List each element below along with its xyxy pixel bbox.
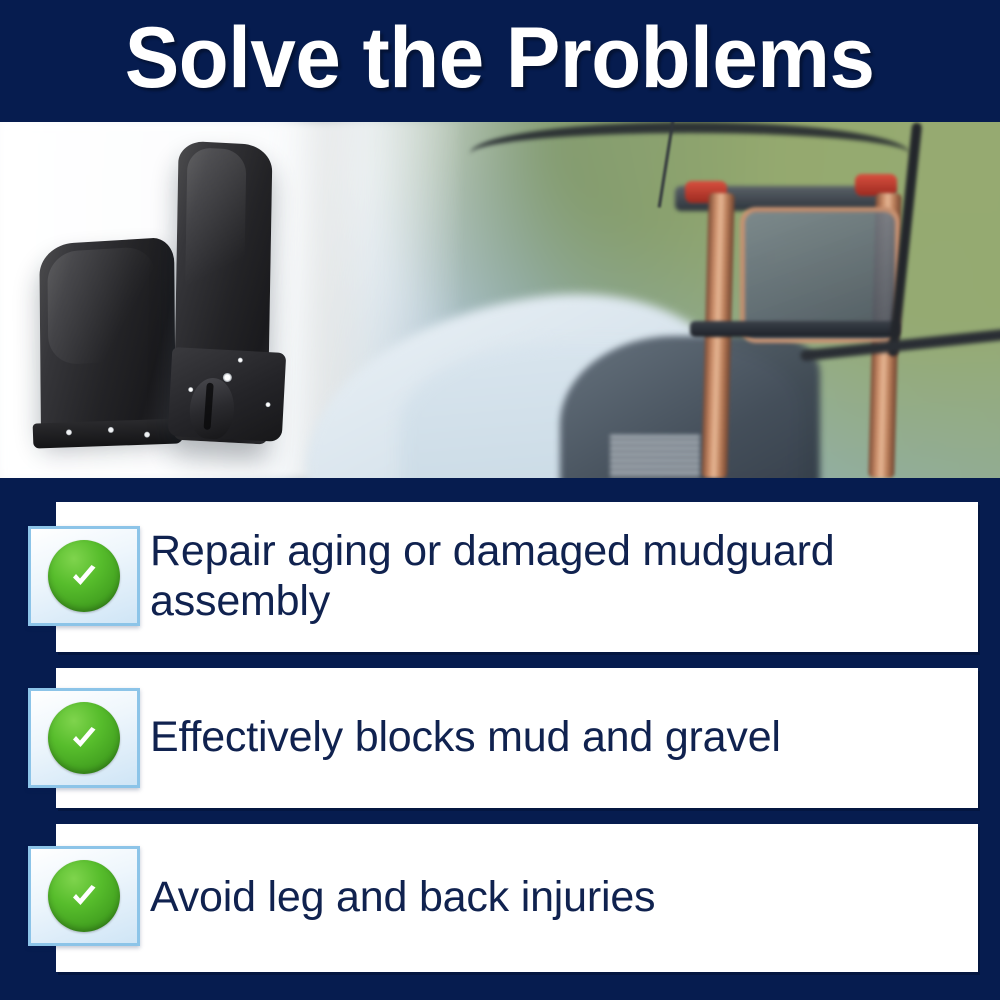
benefit-text: Repair aging or damaged mudguard assembl… [150,527,954,627]
page-title: Solve the Problems [125,15,875,107]
rivet-icon [265,402,270,407]
product-part-small [39,237,175,434]
product-part-small-foot [33,418,184,448]
screw-hole-icon [66,430,72,436]
benefit-check-badge [28,526,140,626]
header-banner: Solve the Problems [0,0,1000,122]
benefit-check-badge [28,846,140,946]
benefit-card: Effectively blocks mud and gravel [56,668,978,808]
benefit-card: Avoid leg and back injuries [56,824,978,972]
rivet-icon [238,357,243,362]
benefit-card: Repair aging or damaged mudguard assembl… [56,502,978,652]
green-check-icon [48,860,120,932]
fork-strap-shape [690,321,900,337]
green-check-icon [48,702,120,774]
benefit-check-badge [28,688,140,788]
benefit-text: Effectively blocks mud and gravel [150,713,954,763]
green-check-icon [48,540,120,612]
motor-fins-shape [610,435,700,478]
infographic-page: Solve the Problems [0,0,1000,1000]
screw-hole-icon [144,432,150,438]
rivet-icon [188,387,193,392]
center-button-icon [223,373,232,382]
screw-hole-icon [108,427,114,433]
hero-product-photo: Two black motorcycle mudguard fender par… [0,122,1000,478]
benefit-text: Avoid leg and back injuries [150,873,954,923]
